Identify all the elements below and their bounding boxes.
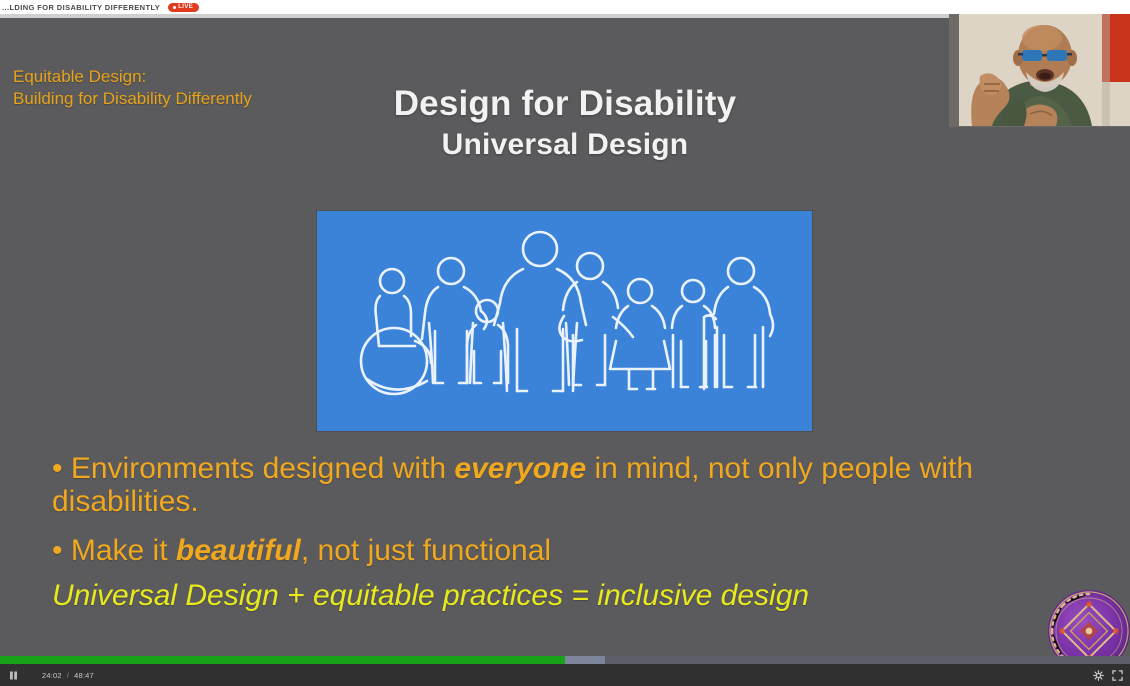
pause-icon[interactable] (6, 668, 20, 682)
child-figure-2 (672, 280, 715, 387)
video-title-bar: ...LDING FOR DISABILITY DIFFERENTLY LIVE (0, 0, 1130, 14)
video-control-bar: 24:02 / 48:47 (0, 664, 1130, 686)
control-bar-right-group (1092, 669, 1130, 681)
slide-corner-title: Equitable Design: Building for Disabilit… (13, 66, 252, 110)
slide-equation-line: Universal Design + equitable practices =… (52, 579, 982, 612)
slide-heading-line-2: Universal Design (0, 126, 1130, 164)
progress-played (0, 656, 565, 664)
bullet-item-2: • Make it beautiful, not just functional (52, 534, 982, 567)
bullet-text-2-pre: Make it (63, 534, 176, 567)
child-figure-dress (610, 279, 670, 389)
settings-gear-icon[interactable] (1092, 669, 1104, 681)
time-display: 24:02 / 48:47 (42, 671, 94, 680)
live-badge: LIVE (168, 3, 199, 12)
video-player: ...LDING FOR DISABILITY DIFFERENTLY LIVE… (0, 0, 1130, 686)
video-progress-bar[interactable] (0, 656, 1130, 664)
fullscreen-icon[interactable] (1111, 669, 1123, 681)
video-title: ...LDING FOR DISABILITY DIFFERENTLY (0, 3, 160, 12)
bullet-marker-2: • (52, 534, 63, 567)
current-time: 24:02 (42, 671, 62, 680)
bullet-marker-1: • (52, 452, 63, 485)
bullet-text-1-pre: Environments designed with (63, 452, 455, 485)
bullet-text-2-post: , not just functional (301, 534, 551, 567)
bullet-emphasis-1: everyone (454, 452, 586, 485)
presenter-webcam[interactable] (949, 14, 1130, 127)
total-time: 48:47 (74, 671, 94, 680)
university-seal-logo (1048, 590, 1130, 656)
bullet-emphasis-2: beautiful (176, 534, 301, 567)
time-separator: / (67, 671, 69, 680)
adult-figure-1 (422, 258, 487, 383)
slide-bullet-list: • Environments designed with everyone in… (52, 452, 982, 612)
wheelchair-figure (361, 269, 431, 394)
adult-figure-2 (559, 253, 633, 385)
universal-design-illustration (317, 211, 812, 431)
bullet-item-1: • Environments designed with everyone in… (52, 452, 982, 518)
live-badge-label: LIVE (178, 4, 193, 10)
live-dot-icon (173, 6, 176, 9)
